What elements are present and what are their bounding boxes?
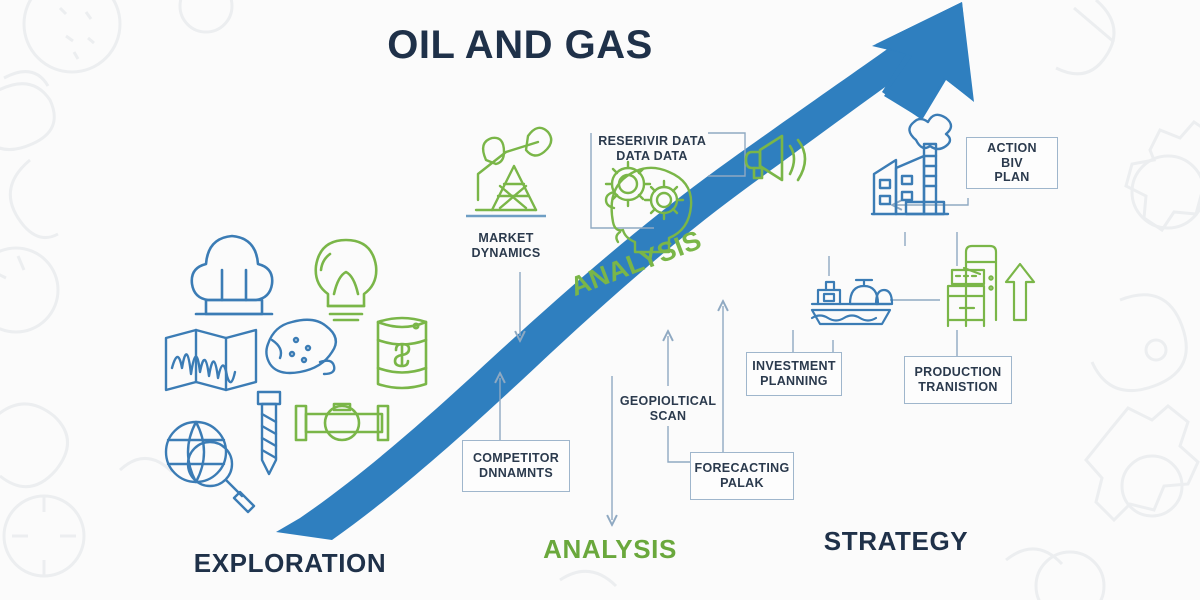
stage-label-analysis: ANALYSIS [490, 534, 730, 565]
node-production-transition-text: PRODUCTION TRANISTION [904, 365, 1011, 395]
node-forecasting: FORECACTING PALAK [690, 452, 794, 500]
node-reservoir-data-line1: RESERIVIR DATA [598, 134, 705, 148]
node-competitor-dynamics-text: COMPETITOR DNNAMNTS [463, 451, 569, 481]
node-forecasting-line2: PALAK [690, 476, 795, 491]
label-layer: OIL AND GAS ANALYSIS MARKET DYNAMICS RES… [0, 0, 1200, 600]
node-investment-planning-text: INVESTMENT PLANNING [742, 359, 846, 389]
node-production-transition-line1: PRODUCTION [909, 365, 1006, 380]
node-action-plan: ACTION BIV PLAN [966, 137, 1058, 189]
node-investment-planning-line1: INVESTMENT [747, 359, 841, 374]
node-market-dynamics: MARKET DYNAMICS [456, 231, 556, 261]
node-action-plan-line2: PLAN [972, 170, 1052, 185]
node-production-transition: PRODUCTION TRANISTION [904, 356, 1012, 404]
node-reservoir-data-line2: DATA DATA [616, 149, 687, 163]
node-competitor-dynamics-line1: COMPETITOR [468, 451, 564, 466]
node-forecasting-line1: FORECACTING [690, 461, 795, 476]
node-market-dynamics-line1: MARKET [478, 231, 533, 245]
stage-label-strategy: STRATEGY [776, 526, 1016, 557]
node-reservoir-data: RESERIVIR DATA DATA DATA [596, 134, 708, 164]
stage-label-exploration: EXPLORATION [120, 548, 460, 579]
node-production-transition-line2: TRANISTION [909, 380, 1006, 395]
node-geopolitical-scan-line1: GEOPIOLTICAL [620, 394, 716, 408]
node-action-plan-text: ACTION BIV PLAN [967, 141, 1057, 185]
node-investment-planning-line2: PLANNING [747, 374, 841, 389]
node-competitor-dynamics: COMPETITOR DNNAMNTS [462, 440, 570, 492]
node-competitor-dynamics-line2: DNNAMNTS [468, 466, 564, 481]
node-geopolitical-scan: GEOPIOLTICAL SCAN [612, 394, 724, 424]
node-investment-planning: INVESTMENT PLANNING [746, 352, 842, 396]
page-title: OIL AND GAS [300, 22, 740, 69]
node-market-dynamics-line2: DYNAMICS [471, 246, 540, 260]
node-forecasting-text: FORECACTING PALAK [685, 461, 800, 491]
node-geopolitical-scan-line2: SCAN [650, 409, 687, 423]
arrow-overlay-label: ANALYSIS [566, 225, 706, 303]
infographic-canvas: OIL AND GAS ANALYSIS MARKET DYNAMICS RES… [0, 0, 1200, 600]
node-action-plan-line1: ACTION BIV [972, 141, 1052, 171]
